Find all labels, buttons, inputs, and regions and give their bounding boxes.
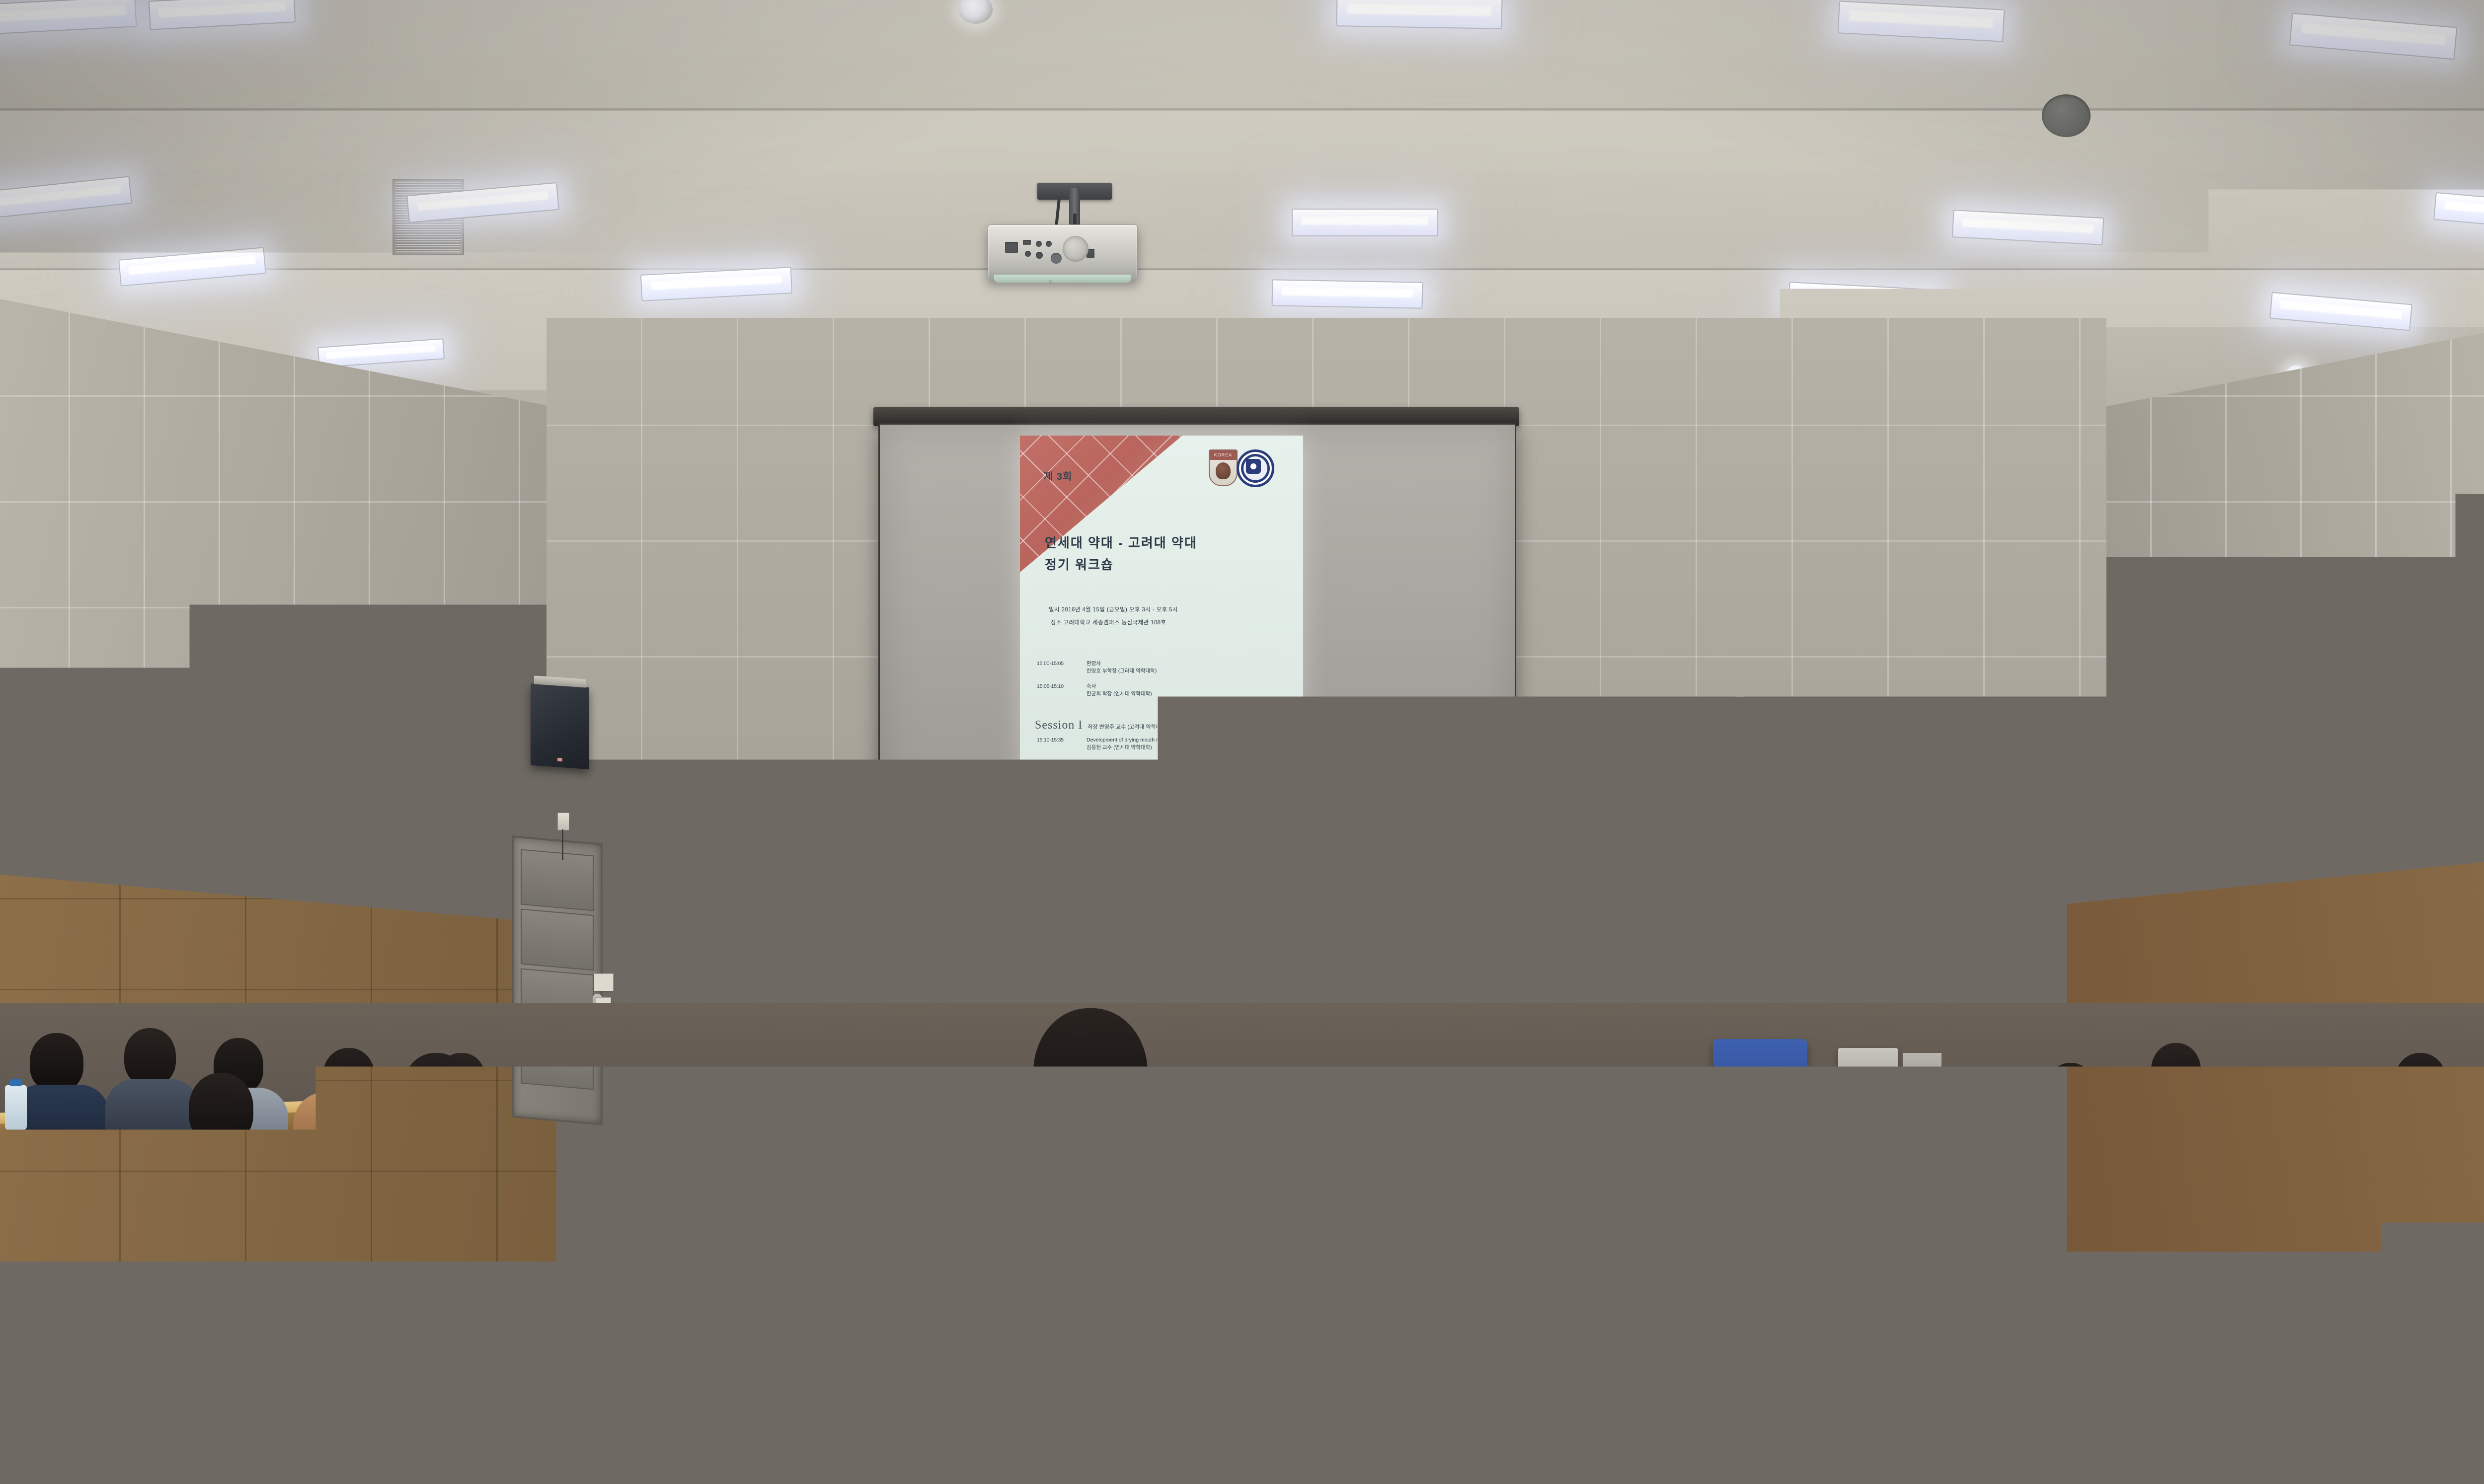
slide-title-line2: 정기 워크숍 <box>1045 555 1114 573</box>
agenda-time: 15:00-15:05 <box>1037 660 1080 675</box>
agenda-title: Development of drying mouth relief Aeris… <box>1087 737 1296 744</box>
banner-date: 일 시: 2016년 4월 15(금) 15:00 <box>1041 951 1201 970</box>
agenda-time: 15:35-16:00 <box>1037 760 1080 775</box>
water-bottle <box>5 1085 27 1130</box>
bottle-label <box>959 1386 1013 1460</box>
agenda-title: Hair regeneration using adipose-derived … <box>1087 836 1296 842</box>
ceiling-light <box>1336 0 1502 29</box>
agenda-text: Hair regeneration using adipose-derived … <box>1087 836 1296 842</box>
black-bag <box>1610 1361 1957 1484</box>
korea-university-crest-icon: KOREA <box>1209 449 1238 486</box>
banner-title: 연세대 약학대학 & 고려대 약학대학 제3회 정기 워크숍 <box>878 890 1513 936</box>
brown-bag <box>1841 1108 1916 1143</box>
session1-label: Session I <box>1035 719 1083 732</box>
slide-session1-header: Session I 좌장 변영주 교수 (고려대 약학대학) <box>1035 719 1168 732</box>
agenda-text: Development of drying mouth relief Aeris… <box>1087 737 1296 751</box>
chair-back[interactable] <box>2077 1247 2176 1340</box>
slide-session2-header: Session II 좌장 김덕한 교수 (연세대 약학대학) <box>1035 817 1172 830</box>
smartphone[interactable] <box>416 1225 478 1260</box>
agenda-text: 환영사 한영호 부학장 (고려대 약학대학) <box>1087 660 1296 675</box>
break-time: 16:00-16:10 <box>1037 791 1080 799</box>
agenda-text: World-wide threat of coronaviruses (PEDV… <box>1087 760 1296 775</box>
slide-agenda-row: 15:00-15:05 환영사 한영호 부학장 (고려대 약학대학) <box>1037 660 1296 675</box>
projection-screen-bottom-bar <box>878 845 1513 858</box>
slide-meta-place: 장소 고려대학교 세종캠퍼스 농심국제관 108호 <box>1051 618 1166 626</box>
bottle-cap <box>961 1341 1011 1363</box>
tiger-icon <box>1216 462 1231 479</box>
slide-agenda-row: 16:10-16:35 Hair regeneration using adip… <box>1037 836 1296 842</box>
banner-title-part1: 연세대 약학대학 <box>908 903 1080 933</box>
cap-brim <box>1683 1143 1772 1166</box>
slide-break-row: 16:00-16:10 Coffee Break <box>1037 791 1296 799</box>
slide-agenda-row: 15:10-15:35 Development of drying mouth … <box>1037 737 1296 751</box>
cap-text: DODGERS <box>1680 1123 1775 1137</box>
agenda-speaker: 송대섭 교수 (고려대 약학대학) <box>1087 768 1296 775</box>
banner-date-value: 2016년 4월 15(금) 15:00 <box>1073 954 1201 968</box>
slide-meta-date: 일시 2016년 4월 15일 (금요일) 오후 3시 - 오후 5시 <box>1049 605 1178 613</box>
break-text: Coffee Break <box>1087 791 1296 799</box>
wall-notice <box>1521 913 1557 939</box>
slide-title-line1: 연세대 약대 - 고려대 약대 <box>1045 533 1197 551</box>
projector-lens <box>1063 236 1088 262</box>
slide-edition: 제 3회 <box>1044 468 1072 483</box>
agenda-speaker: 김용현 교수 (연세대 약학대학) <box>1087 744 1296 751</box>
banner-place-label: 장 소 : <box>1228 953 1261 966</box>
korea-university-shield-icon <box>896 950 913 971</box>
ceiling-sensor <box>2042 94 2091 137</box>
wall-speaker-left <box>531 683 589 769</box>
light-switch[interactable] <box>594 973 614 991</box>
banner-ampersand: & <box>1086 902 1105 931</box>
yonsei-university-crest-icon <box>1237 449 1274 487</box>
lecture-hall-photo: KOREA 제 3회 연세대 약대 - 고려대 약대 정기 워크숍 일시 201… <box>0 0 2484 1484</box>
banner-logo-korea-university: 고려대학교 KOREA UNIVERSITY <box>896 949 965 971</box>
hand <box>1490 1361 1605 1445</box>
ceiling-light <box>1272 279 1423 308</box>
ku-name-en: KOREA UNIVERSITY <box>917 962 965 967</box>
agenda-time: 15:05-15:10 <box>1037 683 1080 698</box>
projector <box>988 224 1138 280</box>
yonsei-university-seal-icon <box>1420 942 1443 965</box>
agenda-text: 축사 한균희 학장 (연세대 약학대학) <box>1087 683 1296 698</box>
workshop-banner: 연세대 약학대학 & 고려대 약학대학 제3회 정기 워크숍 일 시: 2016… <box>877 865 1514 989</box>
session1-chair: 좌장 변영주 교수 (고려대 약학대학) <box>1087 723 1167 731</box>
agenda-time: 15:10-15:35 <box>1037 737 1080 751</box>
fruit-drink-bottle[interactable] <box>954 1356 1018 1484</box>
agenda-speaker: 한영호 부학장 (고려대 약학대학) <box>1087 668 1296 675</box>
detector-wire <box>562 829 563 860</box>
session2-chair: 좌장 김덕한 교수 (연세대 약학대학) <box>1092 821 1172 829</box>
ceiling-light <box>1292 209 1438 236</box>
projected-slide: KOREA 제 3회 연세대 약대 - 고려대 약대 정기 워크숍 일시 201… <box>1020 436 1303 842</box>
session2-label: Session II <box>1035 817 1087 830</box>
banner-place-value: 농심국제관 108호 <box>1264 951 1352 965</box>
banner-place: 장 소 : 농심국제관 108호 <box>1228 948 1352 967</box>
slide-agenda-row: 15:05-15:10 축사 한균희 학장 (연세대 약학대학) <box>1037 683 1296 698</box>
slide-agenda-row: 15:35-16:00 World-wide threat of coronav… <box>1037 760 1296 775</box>
banner-details: 일 시: 2016년 4월 15(금) 15:00 장 소 : 농심국제관 10… <box>879 940 1514 978</box>
agenda-title: 축사 <box>1087 683 1296 690</box>
smoke-detector-icon <box>557 813 569 830</box>
agenda-time: 16:10-16:35 <box>1037 836 1080 842</box>
wall-speaker-right <box>1689 704 1748 790</box>
wall-notice <box>1663 958 1698 985</box>
glasses-icon <box>1652 1013 1687 1021</box>
banner-logo-yonsei-university: 연세대학교 YONSEI UNIVERSITY <box>1420 941 1497 965</box>
yu-name-en: YONSEI UNIVERSITY <box>1448 955 1497 961</box>
projection-screen: KOREA 제 3회 연세대 약대 - 고려대 약대 정기 워크숍 일시 201… <box>878 423 1516 854</box>
agenda-title: World-wide threat of coronaviruses (PEDV… <box>1087 760 1296 768</box>
banner-title-part2: 고려대 약학대학 제3회 정기 워크숍 <box>1112 896 1483 930</box>
banner-date-label: 일 시: <box>1041 956 1070 969</box>
crest-ku-label: KOREA <box>1210 450 1237 460</box>
agenda-speaker: 한균희 학장 (연세대 약학대학) <box>1087 690 1296 698</box>
agenda-title: 환영사 <box>1087 660 1296 668</box>
